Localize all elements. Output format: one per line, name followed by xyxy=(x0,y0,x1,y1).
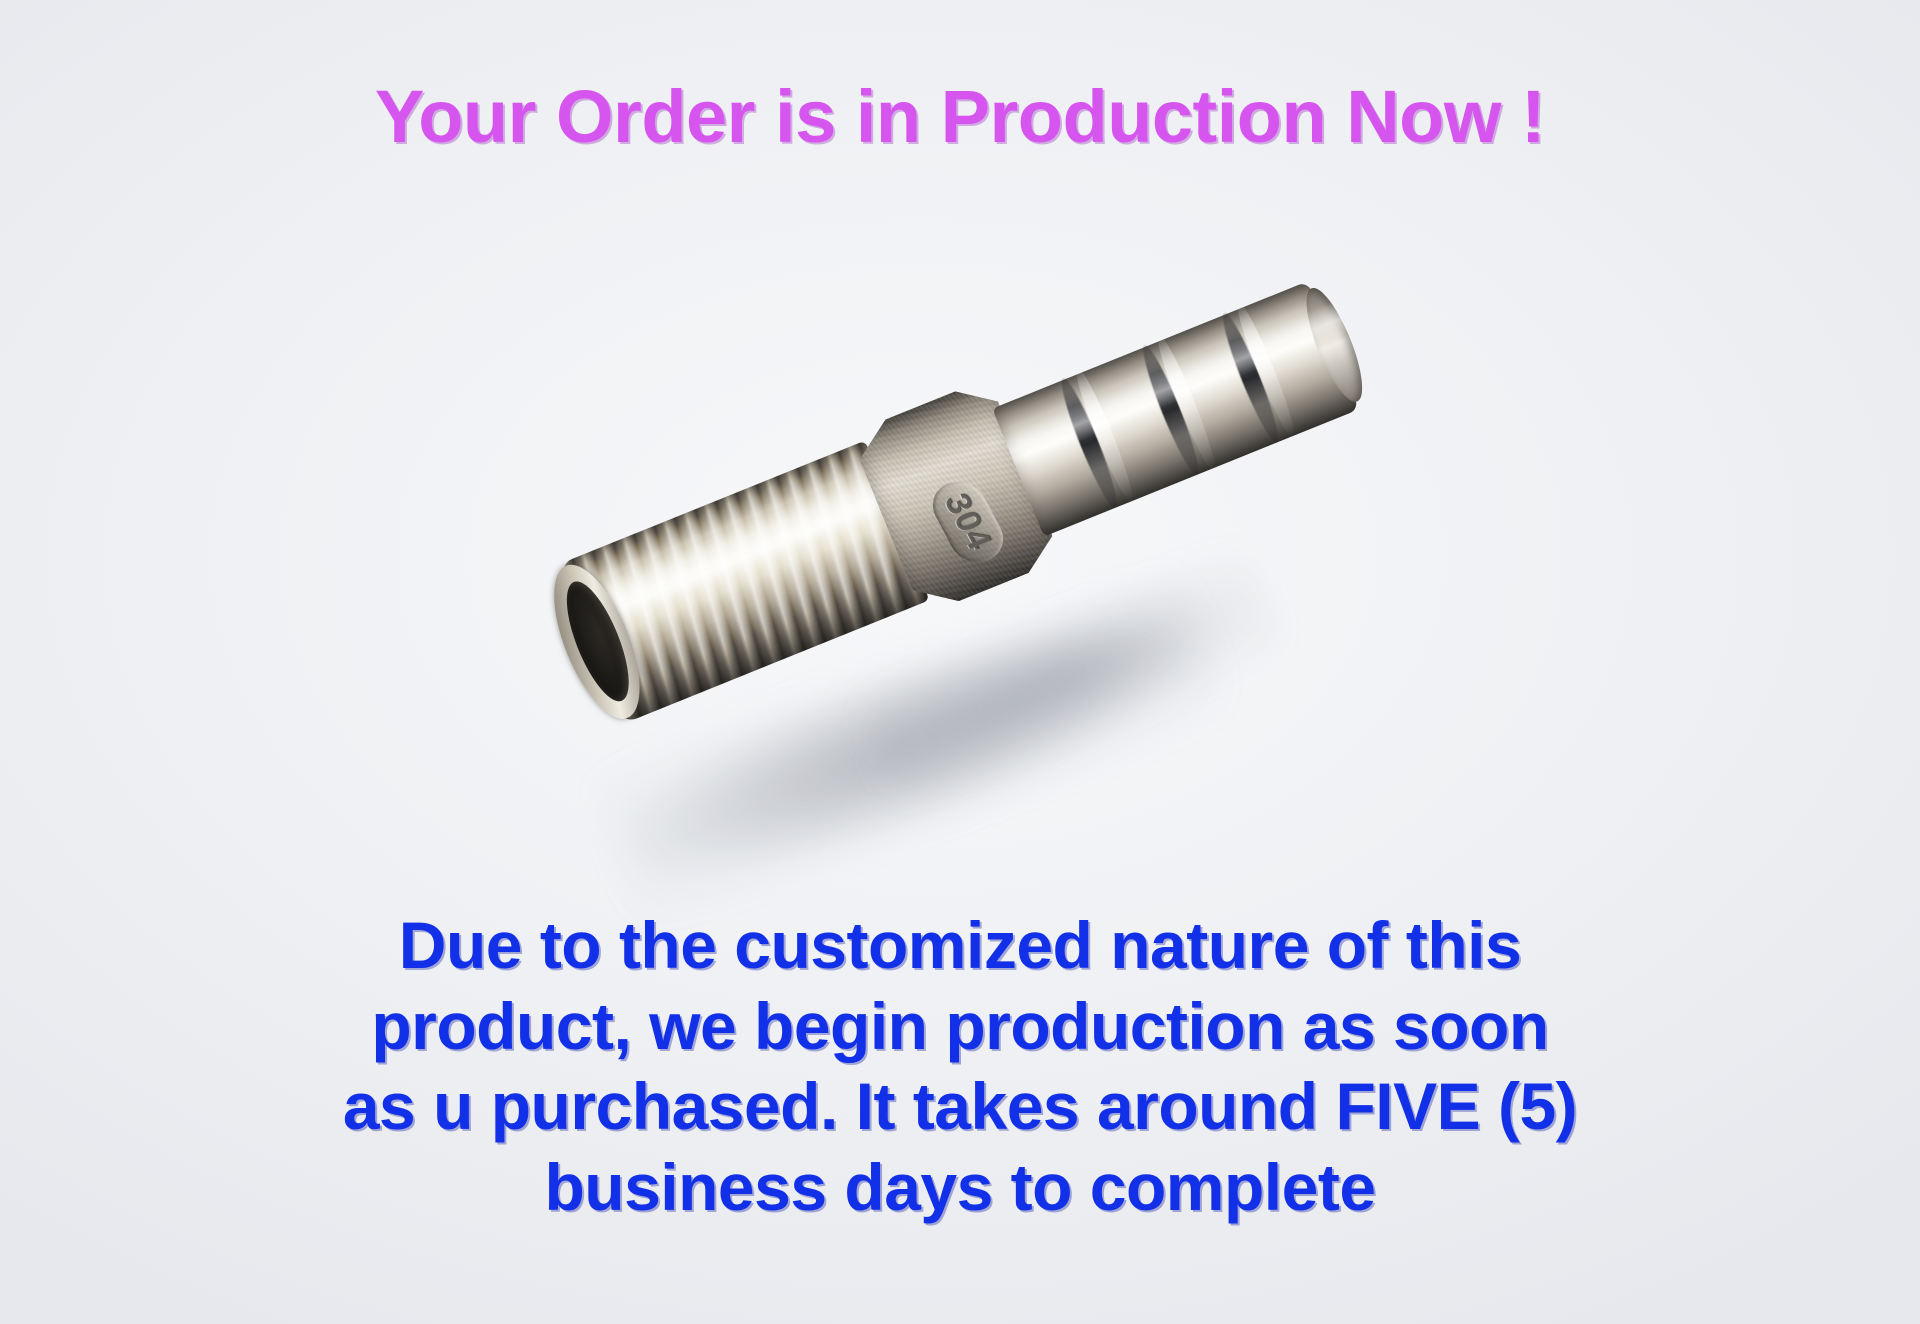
notice-line-4: business days to complete xyxy=(0,1147,1920,1228)
promotional-banner: Your Order is in Production Now ! 304 xyxy=(0,0,1920,1324)
notice-line-2: product, we begin production as soon xyxy=(0,986,1920,1067)
product-image: 304 xyxy=(560,370,1400,870)
page-title: Your Order is in Production Now ! xyxy=(0,78,1920,156)
notice-line-3: as u purchased. It takes around FIVE (5) xyxy=(0,1066,1920,1147)
production-notice-text: Due to the customized nature of this pro… xyxy=(0,905,1920,1227)
notice-line-1: Due to the customized nature of this xyxy=(0,905,1920,986)
